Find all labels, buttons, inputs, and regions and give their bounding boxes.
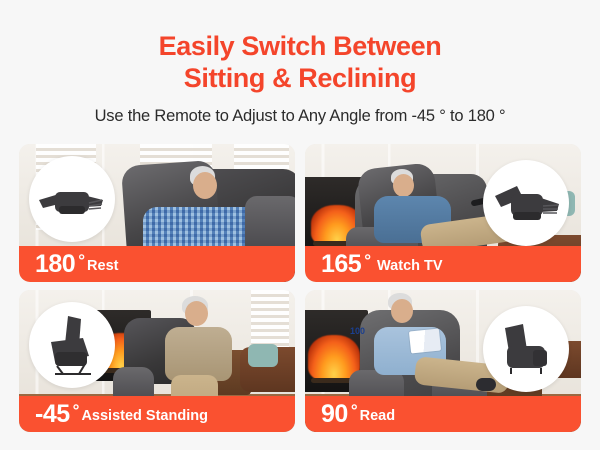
inset-chair-pose-read — [483, 306, 569, 392]
headline-line-1: Easily Switch Between — [159, 31, 442, 61]
degree-symbol: ° — [351, 402, 358, 419]
angle-card-grid: 180 ° Rest — [19, 144, 581, 432]
angle-tag: Assisted Standing — [81, 409, 208, 424]
inset-chair-pose-watch-tv — [483, 160, 569, 246]
magazine-cover-text: 100 — [350, 326, 365, 336]
angle-card-read[interactable]: 100 90 ° Read — [305, 290, 581, 432]
headline-line-2: Sitting & Reclining — [0, 62, 600, 94]
angle-band-assisted-standing: -45 ° Assisted Standing — [19, 396, 295, 432]
angle-tag: Watch TV — [377, 259, 443, 274]
angle-band-read: 90 ° Read — [305, 396, 581, 432]
angle-value: 180 — [35, 252, 75, 277]
angle-value: -45 — [35, 402, 70, 427]
angle-card-watch-tv[interactable]: 165 ° Watch TV — [305, 144, 581, 282]
angle-card-assisted-standing[interactable]: -45 ° Assisted Standing — [19, 290, 295, 432]
angle-tag: Read — [360, 409, 395, 424]
inset-chair-pose-assisted-standing — [29, 302, 115, 388]
page-subtitle: Use the Remote to Adjust to Any Angle fr… — [0, 107, 600, 126]
angle-band-rest: 180 ° Rest — [19, 246, 295, 282]
angle-band-watch-tv: 165 ° Watch TV — [305, 246, 581, 282]
angle-value: 165 — [321, 252, 361, 277]
promo-page: { "header": { "headline_line1": "Easily … — [0, 0, 600, 450]
degree-symbol: ° — [78, 252, 85, 269]
angle-tag: Rest — [87, 259, 118, 274]
degree-symbol: ° — [364, 252, 371, 269]
page-title: Easily Switch Between Sitting & Reclinin… — [0, 30, 600, 94]
degree-symbol: ° — [73, 402, 80, 419]
inset-chair-pose-rest — [29, 156, 115, 242]
angle-card-rest[interactable]: 180 ° Rest — [19, 144, 295, 282]
page-header: Easily Switch Between Sitting & Reclinin… — [0, 0, 600, 126]
angle-value: 90 — [321, 402, 348, 427]
